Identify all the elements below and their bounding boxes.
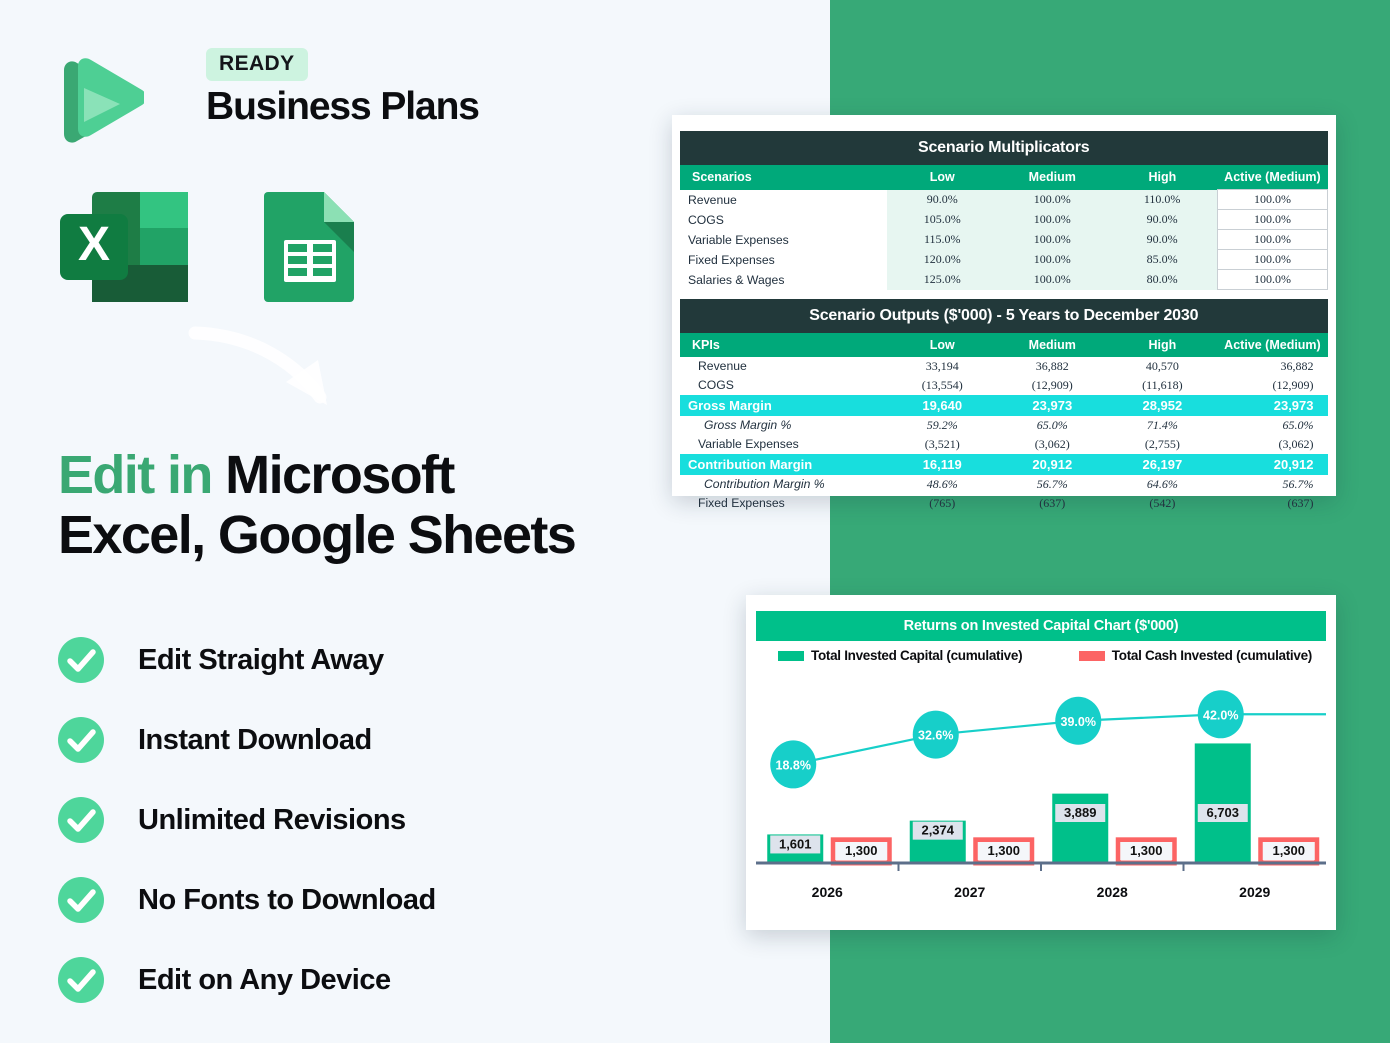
svg-text:1,300: 1,300 — [1130, 843, 1163, 858]
play-triangle-logo-icon — [58, 52, 144, 144]
svg-text:1,300: 1,300 — [1272, 843, 1305, 858]
google-sheets-icon — [260, 188, 396, 306]
table-row: Fixed Expenses (765) (637) (542) (637) — [680, 494, 1328, 513]
cell-high: 64.6% — [1107, 475, 1217, 494]
cell-medium: 100.0% — [997, 210, 1107, 230]
list-item: Edit on Any Device — [58, 940, 698, 1020]
row-label: Variable Expenses — [680, 230, 887, 250]
feature-label: No Fonts to Download — [138, 884, 436, 917]
table-row: Variable Expenses 115.0% 100.0% 90.0% 10… — [680, 230, 1328, 250]
legend-item-invested-capital: Total Invested Capital (cumulative) — [778, 648, 1022, 663]
app-icons-row: X — [56, 188, 396, 306]
cell-active: (12,909) — [1217, 376, 1327, 395]
ready-badge: READY — [206, 48, 308, 81]
cell-high: 71.4% — [1107, 416, 1217, 435]
table-header-row: Scenarios Low Medium High Active (Medium… — [680, 165, 1328, 190]
cell-high: 80.0% — [1107, 270, 1217, 290]
chart-legend: Total Invested Capital (cumulative) Tota… — [756, 641, 1326, 663]
cell-active[interactable]: 100.0% — [1217, 270, 1327, 290]
cell-medium: (3,062) — [997, 435, 1107, 454]
column-header: Active (Medium) — [1217, 333, 1327, 357]
cell-high: 110.0% — [1107, 190, 1217, 210]
cell-active: 65.0% — [1217, 416, 1327, 435]
row-label: Fixed Expenses — [680, 494, 887, 513]
chart-title: Returns on Invested Capital Chart ($'000… — [756, 611, 1326, 641]
cell-low: 59.2% — [887, 416, 997, 435]
column-header: High — [1107, 165, 1217, 190]
legend-swatch — [778, 651, 804, 661]
row-label: Fixed Expenses — [680, 250, 887, 270]
column-header: Low — [887, 333, 997, 357]
cell-active[interactable]: 100.0% — [1217, 190, 1327, 210]
legend-label: Total Invested Capital (cumulative) — [811, 648, 1022, 663]
table-row: Revenue 33,194 36,882 40,570 36,882 — [680, 357, 1328, 376]
cell-active: (637) — [1217, 494, 1327, 513]
cell-low: 125.0% — [887, 270, 997, 290]
cell-low: 48.6% — [887, 475, 997, 494]
cell-active[interactable]: 100.0% — [1217, 210, 1327, 230]
feature-label: Edit Straight Away — [138, 644, 384, 677]
cell-low: 120.0% — [887, 250, 997, 270]
column-header: Medium — [997, 333, 1107, 357]
headline-line2: Excel, Google Sheets — [58, 505, 575, 565]
row-label: COGS — [680, 210, 887, 230]
brand-title: Business Plans — [206, 85, 479, 129]
chart-plot-area: 1,6011,3002,3741,3003,8891,3006,7031,300… — [756, 667, 1326, 902]
table-row: Fixed Expenses 120.0% 100.0% 85.0% 100.0… — [680, 250, 1328, 270]
cell-active: 36,882 — [1217, 357, 1327, 376]
cell-active[interactable]: 100.0% — [1217, 230, 1327, 250]
x-axis-tick-label: 2027 — [899, 884, 1042, 900]
cell-medium: 65.0% — [997, 416, 1107, 435]
cell-low: 16,119 — [887, 454, 997, 475]
roic-chart-card: Returns on Invested Capital Chart ($'000… — [746, 595, 1336, 930]
row-label: Revenue — [680, 357, 887, 376]
curved-arrow-icon — [185, 325, 375, 440]
microsoft-excel-icon: X — [56, 188, 192, 306]
cell-medium: 100.0% — [997, 250, 1107, 270]
scenario-multiplicators-table: Scenario Multiplicators Scenarios Low Me… — [680, 131, 1328, 513]
cell-medium: 23,973 — [997, 395, 1107, 416]
feature-label: Unlimited Revisions — [138, 804, 406, 837]
row-label: Revenue — [680, 190, 887, 210]
x-axis-tick-label: 2026 — [756, 884, 899, 900]
table-row: Revenue 90.0% 100.0% 110.0% 100.0% — [680, 190, 1328, 210]
table-header-row: KPIs Low Medium High Active (Medium) — [680, 333, 1328, 357]
svg-text:1,300: 1,300 — [987, 843, 1020, 858]
cell-high: 26,197 — [1107, 454, 1217, 475]
cell-low: 90.0% — [887, 190, 997, 210]
headline-rest: Microsoft — [212, 445, 454, 505]
column-header: Low — [887, 165, 997, 190]
cell-high: 40,570 — [1107, 357, 1217, 376]
cell-high: 28,952 — [1107, 395, 1217, 416]
scenario-table-card: Scenario Multiplicators Scenarios Low Me… — [672, 115, 1336, 496]
svg-text:39.0%: 39.0% — [1061, 715, 1096, 729]
cell-low: (765) — [887, 494, 997, 513]
x-axis-tick-label: 2029 — [1184, 884, 1327, 900]
chart-x-axis-labels: 2026202720282029 — [756, 884, 1326, 900]
cell-medium: 20,912 — [997, 454, 1107, 475]
feature-list: Edit Straight Away Instant Download Unli… — [58, 620, 698, 1020]
cell-active[interactable]: 100.0% — [1217, 250, 1327, 270]
svg-text:1,300: 1,300 — [845, 843, 878, 858]
table-row-highlight: Gross Margin 19,640 23,973 28,952 23,973 — [680, 395, 1328, 416]
poster-canvas: READY Business Plans X — [0, 0, 1390, 1043]
page-title: Edit in Microsoft Excel, Google Sheets — [58, 445, 758, 566]
row-label: Gross Margin — [680, 395, 887, 416]
cell-high: (542) — [1107, 494, 1217, 513]
cell-active: (3,062) — [1217, 435, 1327, 454]
cell-medium: (637) — [997, 494, 1107, 513]
cell-medium: (12,909) — [997, 376, 1107, 395]
row-label: Gross Margin % — [680, 416, 887, 435]
cell-low: (3,521) — [887, 435, 997, 454]
cell-medium: 100.0% — [997, 230, 1107, 250]
cell-high: 90.0% — [1107, 210, 1217, 230]
section-title: Scenario Multiplicators — [680, 131, 1328, 165]
svg-text:18.8%: 18.8% — [776, 758, 811, 772]
table-row: COGS (13,554) (12,909) (11,618) (12,909) — [680, 376, 1328, 395]
table-row: Contribution Margin % 48.6% 56.7% 64.6% … — [680, 475, 1328, 494]
cell-low: 33,194 — [887, 357, 997, 376]
table-row: Gross Margin % 59.2% 65.0% 71.4% 65.0% — [680, 416, 1328, 435]
svg-text:32.6%: 32.6% — [918, 729, 953, 743]
legend-item-cash-invested: Total Cash Invested (cumulative) — [1079, 648, 1312, 663]
cell-high: 85.0% — [1107, 250, 1217, 270]
cell-active: 23,973 — [1217, 395, 1327, 416]
x-axis-tick-label: 2028 — [1041, 884, 1184, 900]
svg-text:6,703: 6,703 — [1206, 805, 1239, 820]
column-header: Active (Medium) — [1217, 165, 1327, 190]
list-item: Instant Download — [58, 700, 698, 780]
table-row: Variable Expenses (3,521) (3,062) (2,755… — [680, 435, 1328, 454]
legend-swatch — [1079, 651, 1105, 661]
column-header: High — [1107, 333, 1217, 357]
svg-text:3,889: 3,889 — [1064, 805, 1097, 820]
table-row: Salaries & Wages 125.0% 100.0% 80.0% 100… — [680, 270, 1328, 290]
row-label: Variable Expenses — [680, 435, 887, 454]
svg-text:2,374: 2,374 — [921, 823, 954, 838]
row-label: Salaries & Wages — [680, 270, 887, 290]
table-row: COGS 105.0% 100.0% 90.0% 100.0% — [680, 210, 1328, 230]
cell-medium: 100.0% — [997, 270, 1107, 290]
list-item: Edit Straight Away — [58, 620, 698, 700]
list-item: Unlimited Revisions — [58, 780, 698, 860]
cell-low: 19,640 — [887, 395, 997, 416]
row-label: Contribution Margin % — [680, 475, 887, 494]
cell-active: 56.7% — [1217, 475, 1327, 494]
cell-high: (2,755) — [1107, 435, 1217, 454]
cell-high: 90.0% — [1107, 230, 1217, 250]
section-title: Scenario Outputs ($'000) - 5 Years to De… — [680, 299, 1328, 333]
check-circle-icon — [58, 637, 104, 683]
check-circle-icon — [58, 957, 104, 1003]
svg-text:42.0%: 42.0% — [1203, 708, 1238, 722]
cell-medium: 100.0% — [997, 190, 1107, 210]
svg-text:X: X — [78, 218, 110, 271]
cell-low: 105.0% — [887, 210, 997, 230]
column-header: Medium — [997, 165, 1107, 190]
legend-label: Total Cash Invested (cumulative) — [1112, 648, 1312, 663]
cell-medium: 36,882 — [997, 357, 1107, 376]
check-circle-icon — [58, 877, 104, 923]
cell-low: (13,554) — [887, 376, 997, 395]
cell-high: (11,618) — [1107, 376, 1217, 395]
brand-logo-block: READY Business Plans — [58, 48, 478, 158]
check-circle-icon — [58, 797, 104, 843]
headline-accent: Edit in — [58, 445, 212, 505]
column-header: Scenarios — [680, 165, 887, 190]
row-label: COGS — [680, 376, 887, 395]
list-item: No Fonts to Download — [58, 860, 698, 940]
cell-medium: 56.7% — [997, 475, 1107, 494]
cell-active: 20,912 — [1217, 454, 1327, 475]
row-label: Contribution Margin — [680, 454, 887, 475]
cell-low: 115.0% — [887, 230, 997, 250]
column-header: KPIs — [680, 333, 887, 357]
feature-label: Instant Download — [138, 724, 372, 757]
check-circle-icon — [58, 717, 104, 763]
svg-text:1,601: 1,601 — [779, 836, 812, 851]
table-row-highlight: Contribution Margin 16,119 20,912 26,197… — [680, 454, 1328, 475]
brand-text: READY Business Plans — [206, 48, 479, 129]
feature-label: Edit on Any Device — [138, 964, 391, 997]
